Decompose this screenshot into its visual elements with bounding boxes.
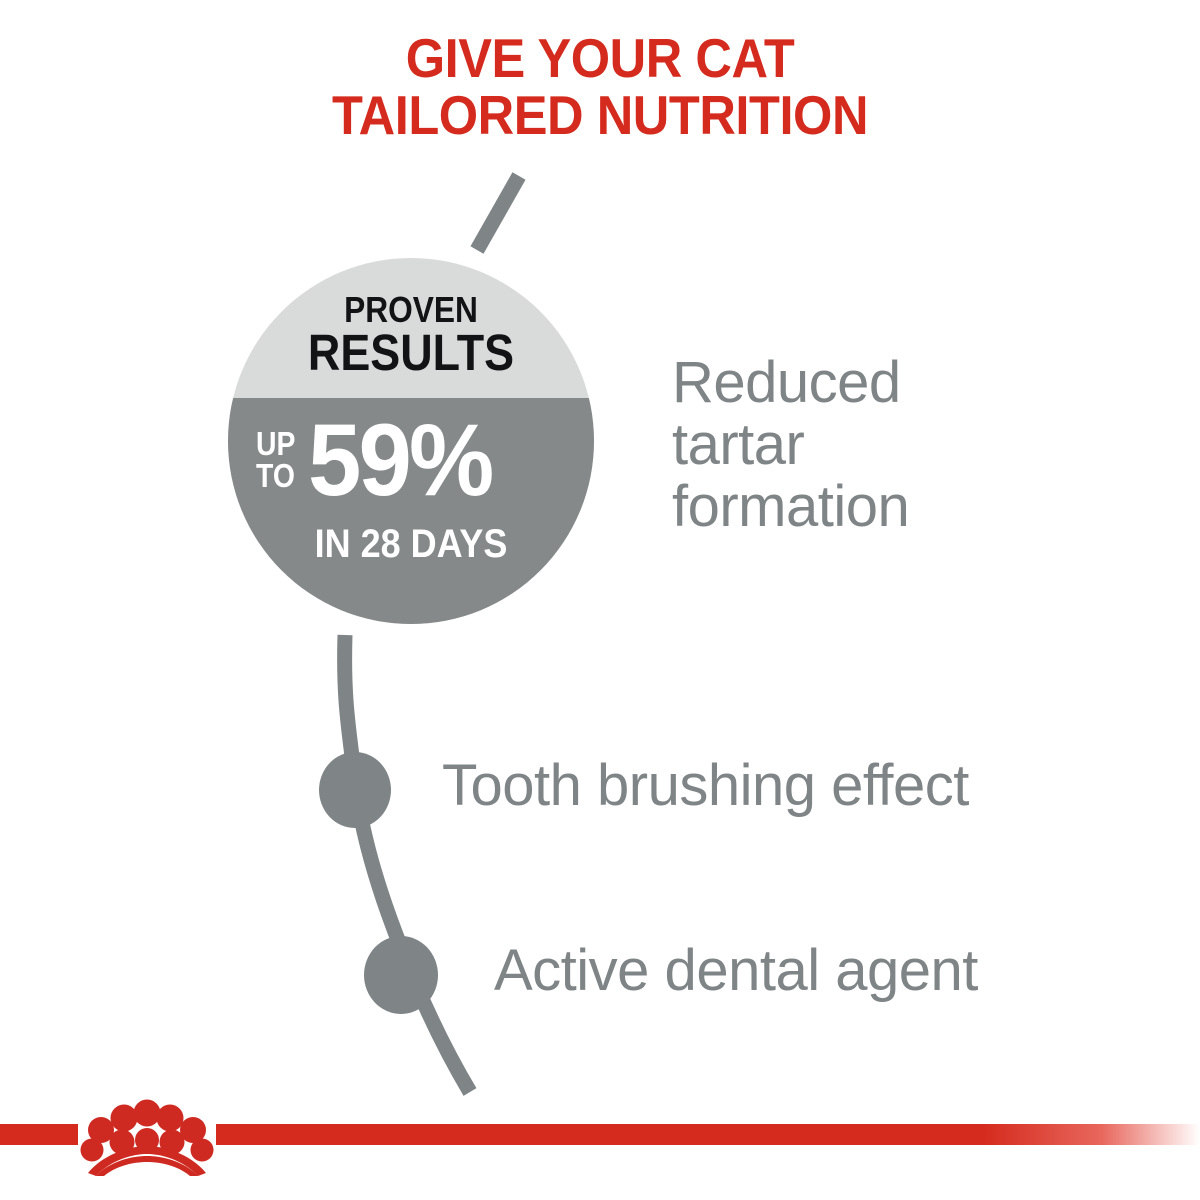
badge-results-label: RESULTS bbox=[250, 326, 572, 379]
page-title: GIVE YOUR CAT TAILORED NUTRITION bbox=[48, 30, 1152, 144]
connector-path-group bbox=[0, 0, 1200, 1200]
royal-canin-crown-icon bbox=[72, 1096, 222, 1176]
badge-duration-label: IN 28 DAYS bbox=[246, 523, 575, 565]
badge-content: PROVEN RESULTS UP TO 59% IN 28 DAYS bbox=[228, 258, 594, 624]
connector-dot-1 bbox=[319, 752, 391, 828]
badge-percent-value: 59% bbox=[308, 409, 491, 511]
proven-results-badge: PROVEN RESULTS UP TO 59% IN 28 DAYS bbox=[228, 258, 594, 624]
headline-line-1: GIVE YOUR CAT bbox=[48, 30, 1152, 87]
connector-dot-2 bbox=[364, 936, 438, 1014]
feature-tooth-brushing-effect: Tooth brushing effect bbox=[442, 755, 1142, 817]
feature-reduced-tartar-formation: Reduced tartar formation bbox=[672, 352, 1142, 538]
badge-percent-row: UP TO 59% bbox=[256, 406, 576, 514]
connector-dash-top bbox=[477, 176, 519, 250]
feature-active-dental-agent: Active dental agent bbox=[494, 940, 1154, 1002]
brand-band-left bbox=[0, 1124, 78, 1145]
brand-band-right bbox=[216, 1124, 1200, 1145]
badge-up-to-label: UP TO bbox=[256, 428, 295, 492]
infographic-canvas: GIVE YOUR CAT TAILORED NUTRITION PROVEN … bbox=[0, 0, 1200, 1200]
connector-line-main bbox=[345, 635, 470, 1092]
headline-line-2: TAILORED NUTRITION bbox=[48, 87, 1152, 144]
